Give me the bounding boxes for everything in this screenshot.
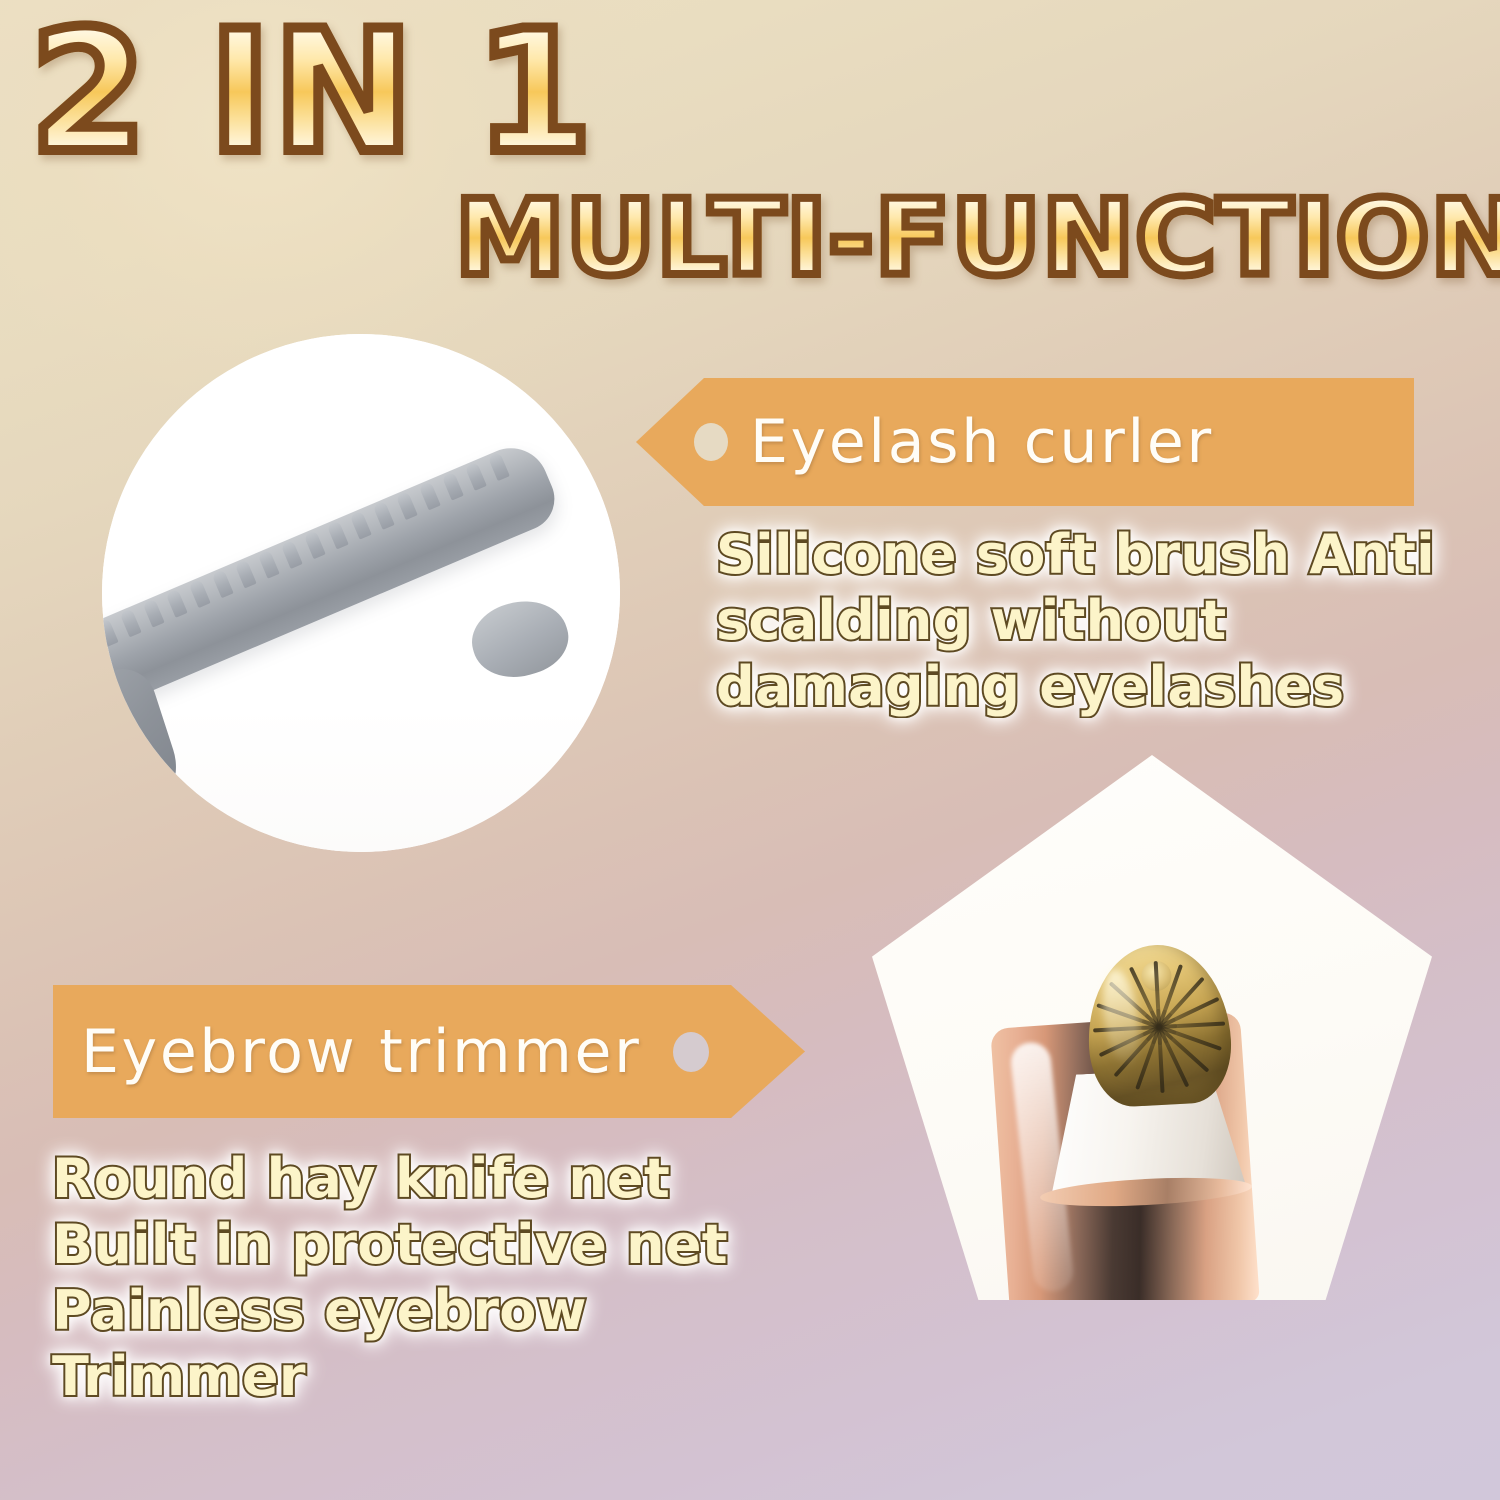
feature-banner-eyelash-curler: Eyelash curler	[636, 378, 1414, 506]
banner-hole-icon	[694, 423, 728, 461]
banner-hole-icon	[673, 1032, 709, 1072]
feature-description-eyebrow-trimmer: Round hay knife net Built in protective …	[52, 1146, 812, 1410]
headline-2-in-1: 2 IN 1	[30, 8, 594, 176]
headline-multi-function: MULTI-FUNCTION	[455, 186, 1500, 290]
eyelash-curler-photo	[102, 334, 620, 852]
product-feature-poster: 2 IN 1 MULTI-FUNCTION Eyelash curler Sil…	[0, 0, 1500, 1500]
feature-banner-label: Eyebrow trimmer	[81, 1022, 641, 1082]
feature-banner-label: Eyelash curler	[750, 412, 1214, 472]
feature-banner-eyebrow-trimmer: Eyebrow trimmer	[53, 985, 805, 1118]
eyebrow-trimmer-photo	[872, 755, 1432, 1300]
feature-description-eyelash-curler: Silicone soft brush Anti scalding withou…	[716, 522, 1456, 720]
